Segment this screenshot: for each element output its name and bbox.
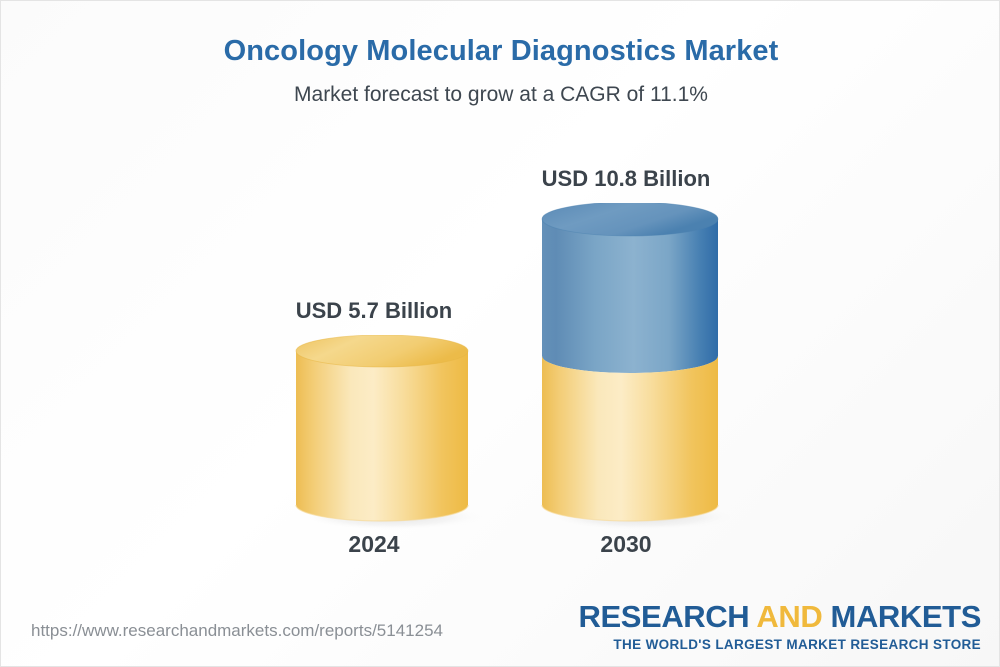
logo-wordmark: RESEARCH AND MARKETS (579, 601, 982, 632)
bar-cylinder-2030[interactable] (534, 203, 739, 535)
logo-word-research: RESEARCH (579, 599, 757, 634)
chart-plot-area: USD 5.7 Billion (1, 1, 1000, 601)
bar-cylinder-2024[interactable] (286, 335, 486, 535)
infographic-canvas: Oncology Molecular Diagnostics Market Ma… (0, 0, 1000, 667)
bar-value-label-2030: USD 10.8 Billion (476, 166, 776, 192)
brand-logo[interactable]: RESEARCH AND MARKETS THE WORLD'S LARGEST… (579, 601, 982, 652)
bar-category-label-2030: 2030 (476, 531, 776, 558)
logo-word-and: AND (756, 599, 822, 634)
report-url[interactable]: https://www.researchandmarkets.com/repor… (31, 621, 443, 641)
logo-word-markets: MARKETS (822, 599, 981, 634)
bar-value-label-2024: USD 5.7 Billion (224, 298, 524, 324)
logo-tagline: THE WORLD'S LARGEST MARKET RESEARCH STOR… (579, 638, 982, 652)
